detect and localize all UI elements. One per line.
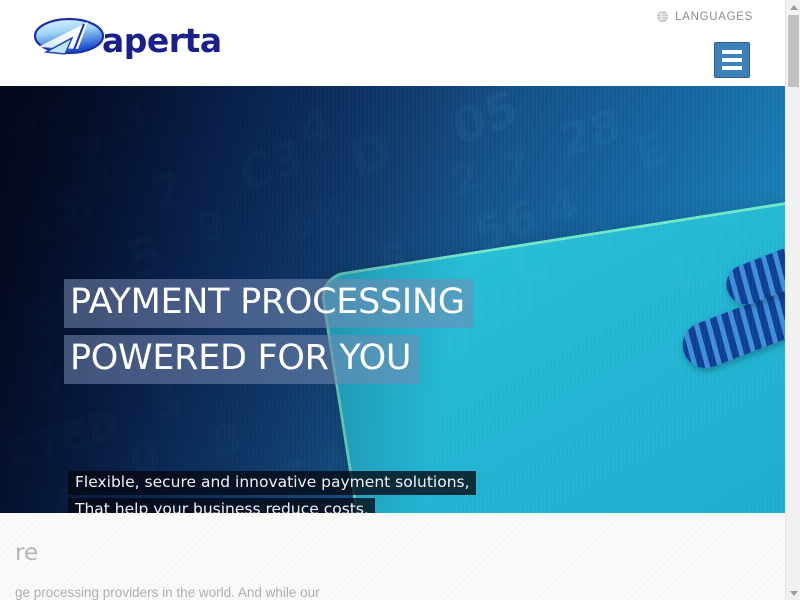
globe-icon [656,10,669,23]
hero-subtitle-line-2: That help your business reduce costs, [68,498,375,513]
digit-glyph: 05 [3,89,77,165]
digit-glyph: 9 [192,198,230,255]
hamburger-bar-3 [722,66,742,70]
digit-glyph: E [630,119,673,182]
scroll-down-arrow-icon[interactable] [786,586,800,600]
digit-glyph: 7 [495,140,535,200]
scroll-up-arrow-icon[interactable] [786,0,800,14]
intro-section: re ge processing providers in the world.… [0,513,785,600]
digit-glyph: 2 [144,159,189,225]
hero-subtitle: Flexible, secure and innovative payment … [68,471,476,513]
digit-glyph: D [344,120,397,191]
digit-glyph: E7ED [4,400,123,477]
digit-glyph: 9C [82,147,144,209]
intro-heading: re [15,540,38,566]
digit-glyph: 8 [53,172,101,241]
digit-glyph: 05 [447,86,524,158]
page-scrollbar[interactable] [785,0,800,600]
scroll-thumb[interactable] [788,15,799,87]
digit-glyph: 6B [282,187,348,252]
hero-headline: PAYMENT PROCESSINGPOWERED FOR YOU [64,279,473,391]
digit-glyph: 2 [447,152,484,206]
hero-headline-line-1: PAYMENT PROCESSING [64,279,473,328]
digit-glyph: 28 [556,99,625,168]
page-root: aperta LANGUAGES 05738B259C34D0528E27564… [0,0,800,600]
aperta-swoosh-logo-icon [32,16,106,60]
digit-glyph: 5 [24,349,69,415]
hero-banner: 05738B259C34D0528E27564C9484880355253E7E… [0,86,785,513]
languages-link[interactable]: LANGUAGES [656,10,753,23]
digit-glyph: 4 [295,98,335,158]
digit-glyph: 4 [544,178,582,235]
hero-subtitle-line-1: Flexible, secure and innovative payment … [68,471,476,495]
digit-glyph: C3 [233,127,308,202]
hero-headline-line-2: POWERED FOR YOU [64,335,419,384]
languages-label: LANGUAGES [675,11,753,23]
logo-text: aperta [102,24,222,57]
hamburger-menu-button[interactable] [714,42,750,78]
hamburger-bar-1 [722,50,742,54]
site-header: aperta LANGUAGES [0,0,785,86]
intro-paragraph: ge processing providers in the world. An… [15,585,320,600]
digit-glyph: 7 [66,123,115,194]
site-logo[interactable]: aperta [32,12,222,64]
digit-glyph: 8 [208,412,246,469]
digit-glyph: B [13,199,57,260]
digit-glyph: 3 [116,92,152,146]
hamburger-bar-2 [722,58,742,62]
